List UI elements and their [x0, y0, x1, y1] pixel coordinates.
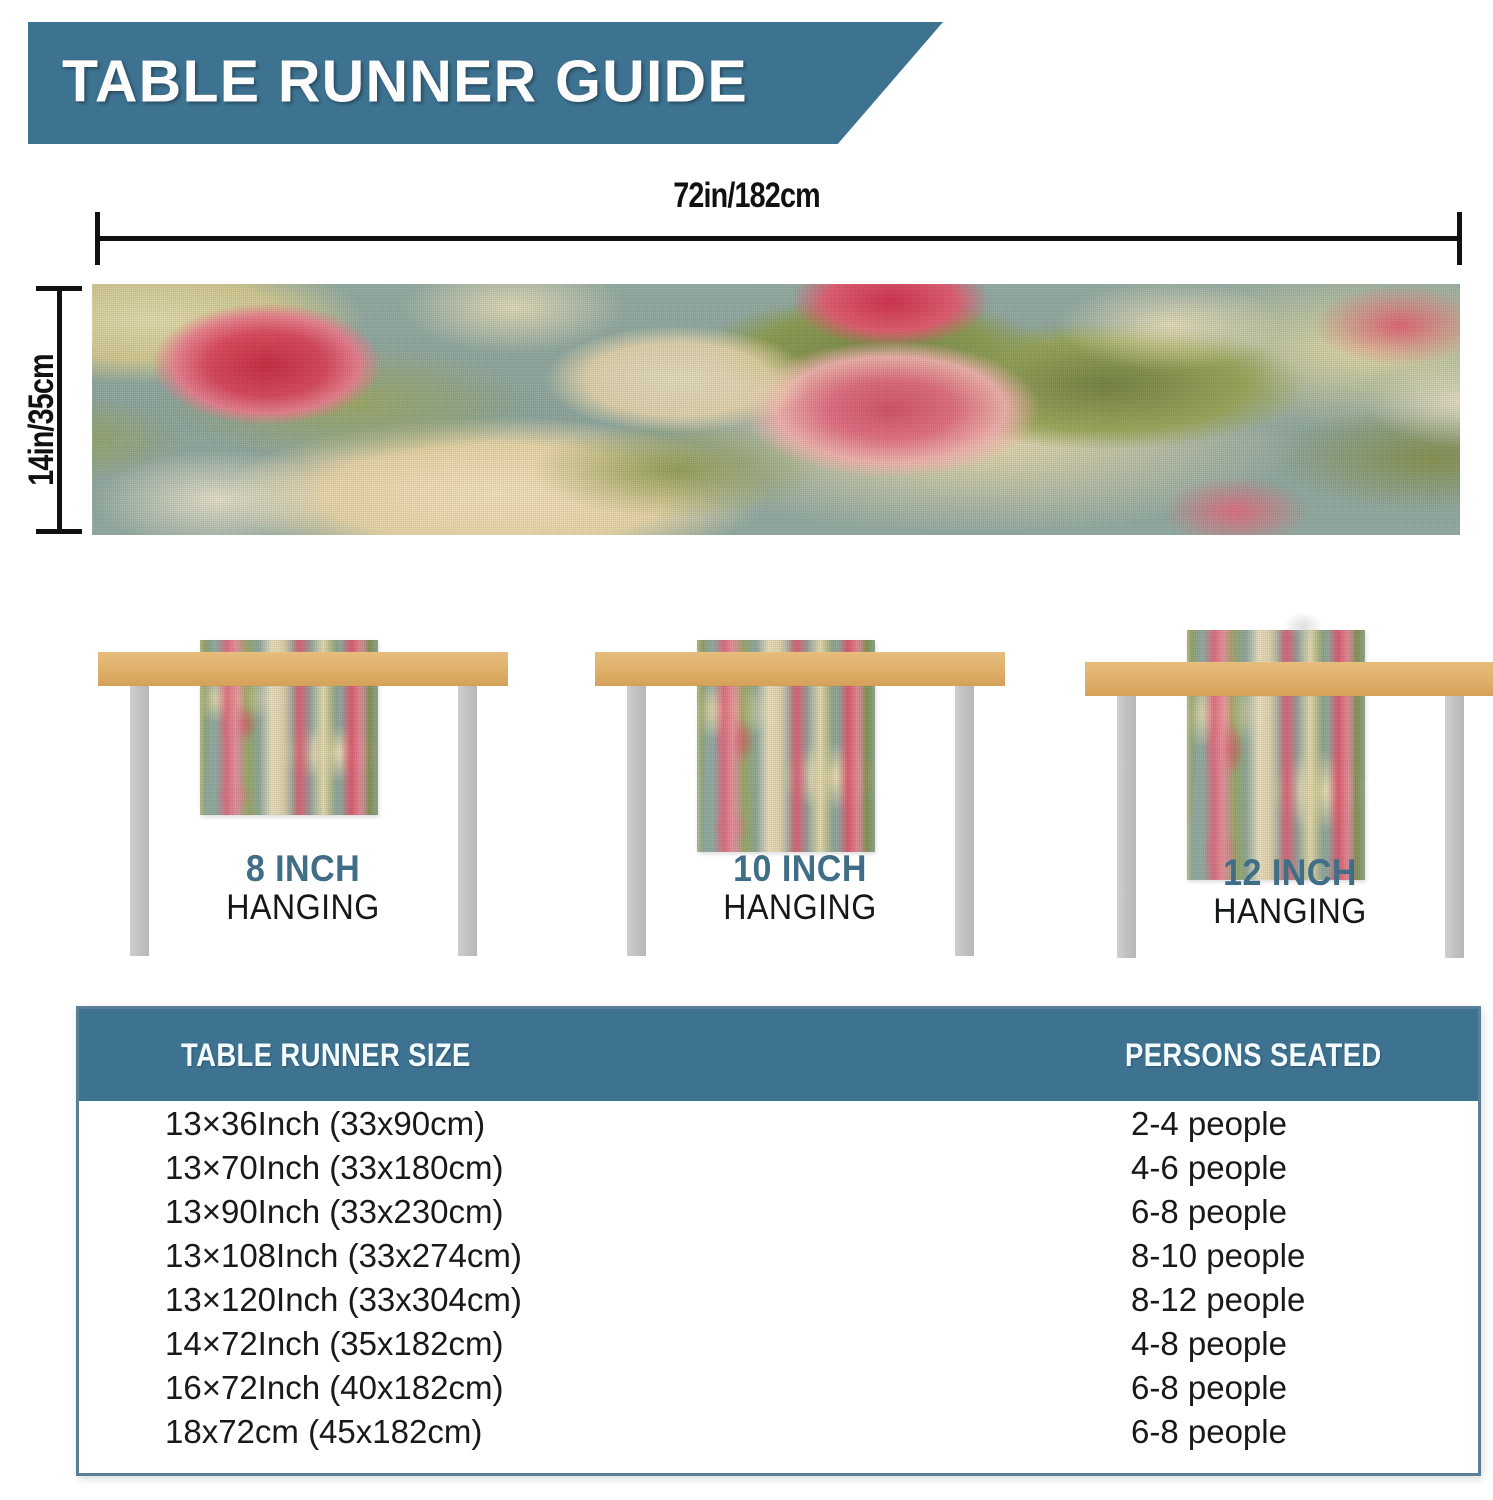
- table-row: 13×120Inch (33x304cm) 8-12 people: [79, 1281, 1478, 1325]
- table-top: [98, 652, 508, 686]
- height-dimension-cap-top: [36, 286, 82, 291]
- column-header-people: PERSONS SEATED: [1125, 1037, 1382, 1074]
- cell-persons-seated: 4-6 people: [1131, 1149, 1287, 1187]
- image-artifact-smudge: [1283, 612, 1323, 640]
- table-top: [595, 652, 1005, 686]
- runner-width-label: 72in/182cm: [134, 176, 1358, 216]
- cell-persons-seated: 6-8 people: [1131, 1369, 1287, 1407]
- cell-runner-size: 18x72cm (45x182cm): [165, 1413, 482, 1451]
- table-runner-guide-page: TABLE RUNNER GUIDE 72in/182cm 14in/35cm: [0, 0, 1493, 1500]
- height-dimension-cap-bottom: [36, 529, 82, 534]
- runner-height-label: 14in/35cm: [22, 322, 62, 519]
- hanging-inch-label: 12 INCH: [1092, 852, 1488, 894]
- width-dimension-cap-left: [95, 212, 100, 265]
- hanging-inch-label: 10 INCH: [602, 848, 998, 890]
- width-dimension-line: [95, 236, 1462, 241]
- hanging-examples-row: 8 INCH HANGING 10 INCH HANGING: [0, 600, 1493, 960]
- cell-persons-seated: 4-8 people: [1131, 1325, 1287, 1363]
- cell-runner-size: 16×72Inch (40x182cm): [165, 1369, 503, 1407]
- table-row: 16×72Inch (40x182cm) 6-8 people: [79, 1369, 1478, 1413]
- height-dimension-line: [57, 286, 62, 534]
- cell-persons-seated: 6-8 people: [1131, 1193, 1287, 1231]
- cell-persons-seated: 8-12 people: [1131, 1281, 1305, 1319]
- cell-runner-size: 13×108Inch (33x274cm): [165, 1237, 522, 1275]
- hanging-inch-label: 8 INCH: [105, 848, 501, 890]
- hanging-word-label: HANGING: [1092, 892, 1488, 932]
- cell-persons-seated: 8-10 people: [1131, 1237, 1305, 1275]
- cell-runner-size: 13×36Inch (33x90cm): [165, 1105, 485, 1143]
- cell-persons-seated: 6-8 people: [1131, 1413, 1287, 1451]
- cell-persons-seated: 2-4 people: [1131, 1105, 1287, 1143]
- cell-runner-size: 13×120Inch (33x304cm): [165, 1281, 522, 1319]
- fabric-weave-texture: [92, 284, 1460, 535]
- table-top: [1085, 662, 1493, 696]
- cell-runner-size: 13×70Inch (33x180cm): [165, 1149, 503, 1187]
- header-banner: TABLE RUNNER GUIDE: [28, 22, 943, 144]
- table-row: 18x72cm (45x182cm) 6-8 people: [79, 1413, 1478, 1457]
- hanging-word-label: HANGING: [105, 888, 501, 928]
- cell-runner-size: 14×72Inch (35x182cm): [165, 1325, 503, 1363]
- table-row: 13×90Inch (33x230cm) 6-8 people: [79, 1193, 1478, 1237]
- runner-fabric-swatch: [92, 284, 1460, 535]
- table-row: 13×108Inch (33x274cm) 8-10 people: [79, 1237, 1478, 1281]
- hanging-word-label: HANGING: [602, 888, 998, 928]
- floral-fabric-pattern: [92, 284, 1460, 535]
- size-table-panel: TABLE RUNNER SIZE PERSONS SEATED 13×36In…: [76, 1006, 1481, 1476]
- hanging-example-12-inch: 12 INCH HANGING: [1075, 600, 1493, 960]
- table-row: 13×36Inch (33x90cm) 2-4 people: [79, 1105, 1478, 1149]
- table-row: 13×70Inch (33x180cm) 4-6 people: [79, 1149, 1478, 1193]
- size-table-header: TABLE RUNNER SIZE PERSONS SEATED: [79, 1009, 1478, 1101]
- page-title: TABLE RUNNER GUIDE: [62, 48, 748, 116]
- column-header-size: TABLE RUNNER SIZE: [181, 1037, 471, 1074]
- hanging-example-8-inch: 8 INCH HANGING: [88, 600, 518, 960]
- cell-runner-size: 13×90Inch (33x230cm): [165, 1193, 503, 1231]
- table-row: 14×72Inch (35x182cm) 4-8 people: [79, 1325, 1478, 1369]
- hanging-example-10-inch: 10 INCH HANGING: [585, 600, 1015, 960]
- width-dimension-cap-right: [1457, 212, 1462, 265]
- size-table-body: 13×36Inch (33x90cm) 2-4 people 13×70Inch…: [79, 1105, 1478, 1457]
